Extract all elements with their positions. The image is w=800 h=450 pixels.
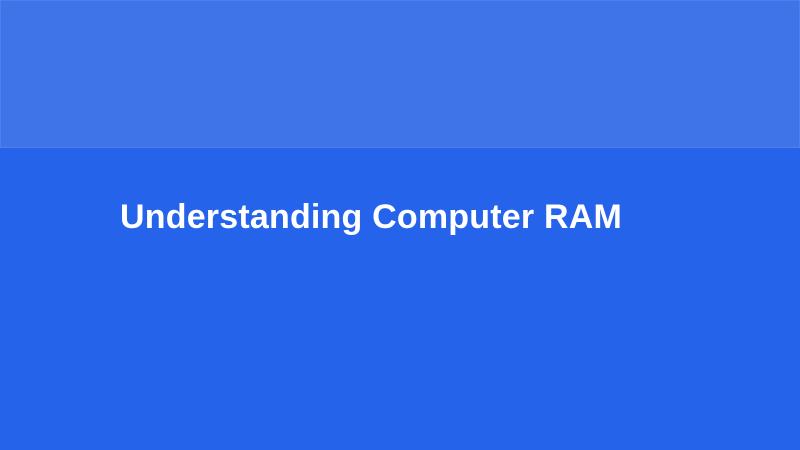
- slide-header-band: [0, 0, 800, 148]
- presentation-slide: Understanding Computer RAM: [0, 0, 800, 450]
- page-title: Understanding Computer RAM: [120, 195, 622, 239]
- slide-title-block: Understanding Computer RAM: [120, 192, 720, 242]
